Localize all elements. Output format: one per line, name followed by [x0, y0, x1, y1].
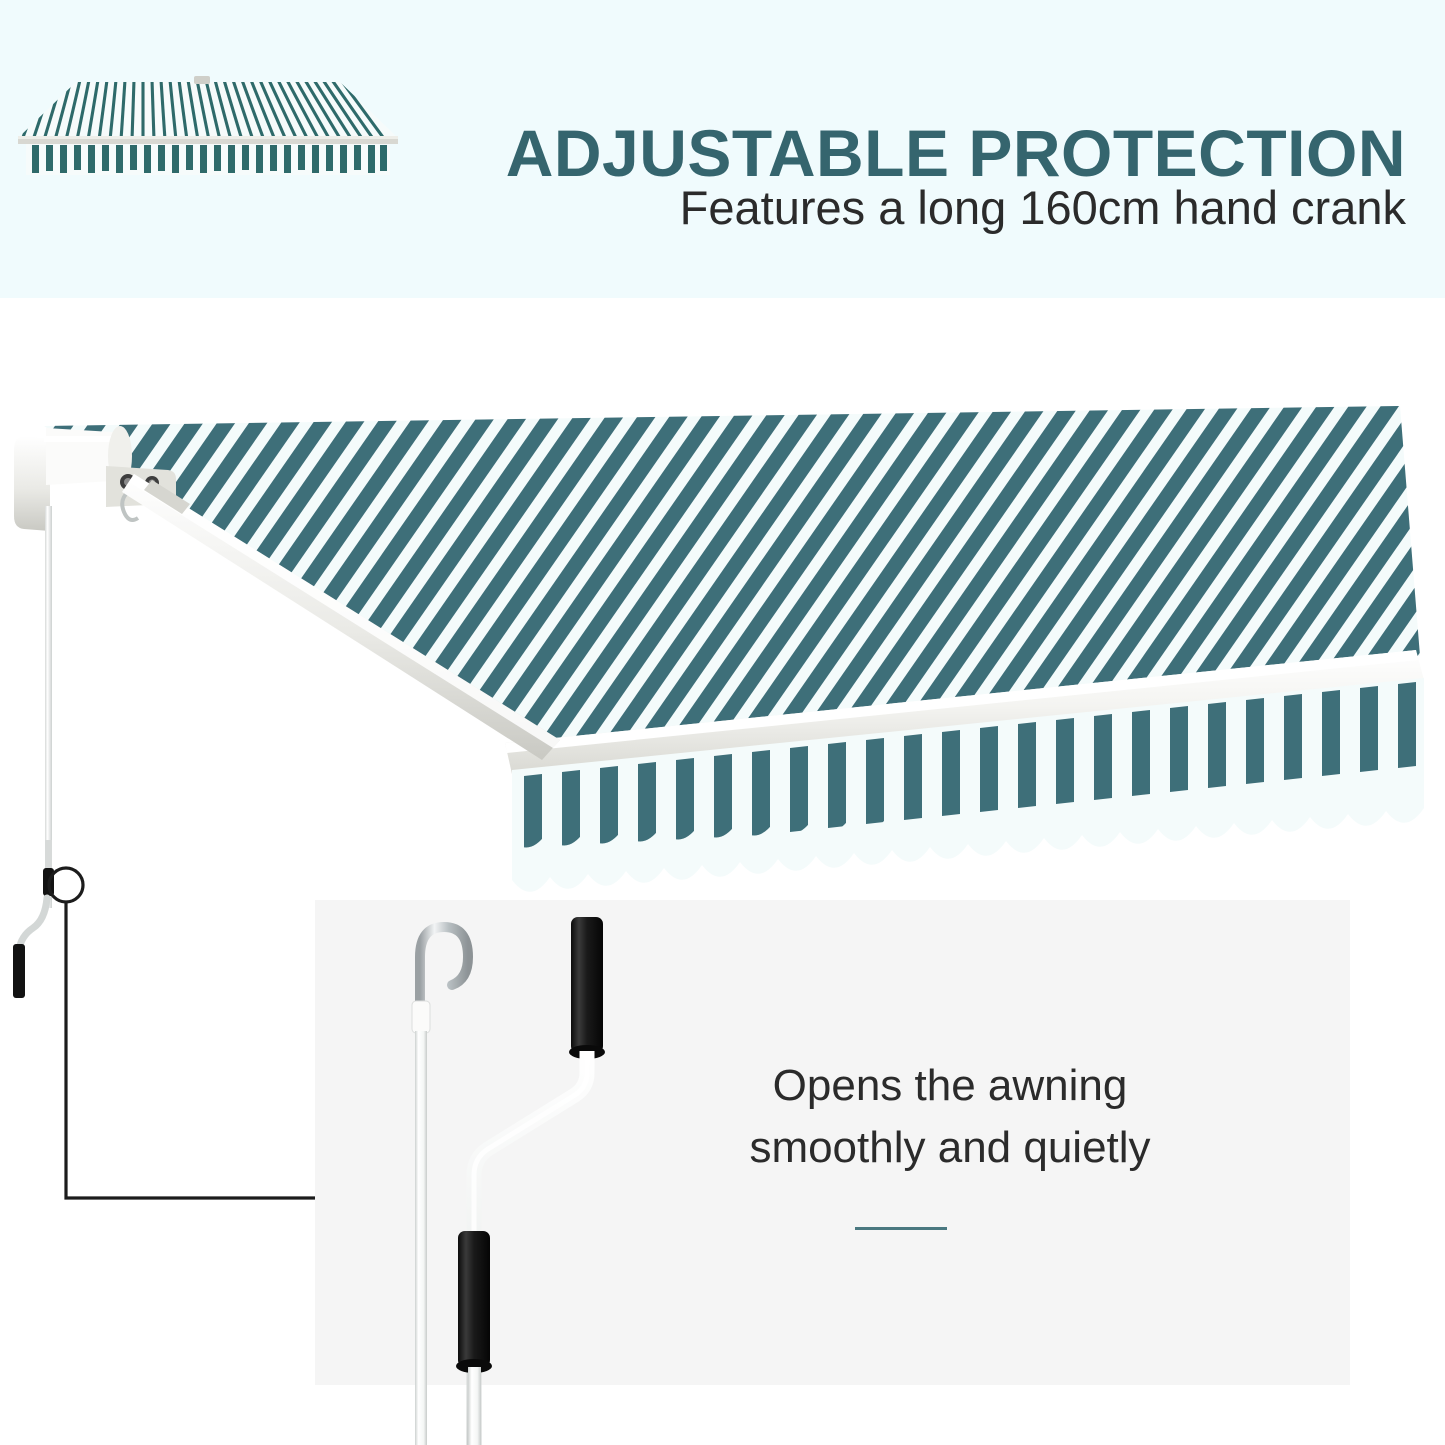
- rod-bottom-crank: [13, 840, 54, 998]
- crank-callout-marker: [49, 868, 83, 902]
- feature-caption-line-2: smoothly and quietly: [700, 1117, 1200, 1179]
- retractable-awning-image: [0, 388, 1445, 908]
- black-lower-grip: [458, 1231, 490, 1367]
- feature-caption-divider: [855, 1227, 947, 1230]
- feature-caption: Opens the awning smoothly and quietly: [700, 1055, 1200, 1179]
- page-subtitle: Features a long 160cm hand crank: [398, 178, 1406, 238]
- awning-thumbnail-icon: [18, 72, 398, 177]
- product-feature-graphic: ADJUSTABLE PROTECTION Features a long 16…: [0, 0, 1445, 1445]
- metal-hook: [420, 927, 468, 1005]
- hand-crank-handle-image: [368, 905, 668, 1445]
- black-upper-grip: [571, 917, 603, 1053]
- feature-caption-line-1: Opens the awning: [700, 1055, 1200, 1117]
- white-crank-arm: [456, 917, 605, 1445]
